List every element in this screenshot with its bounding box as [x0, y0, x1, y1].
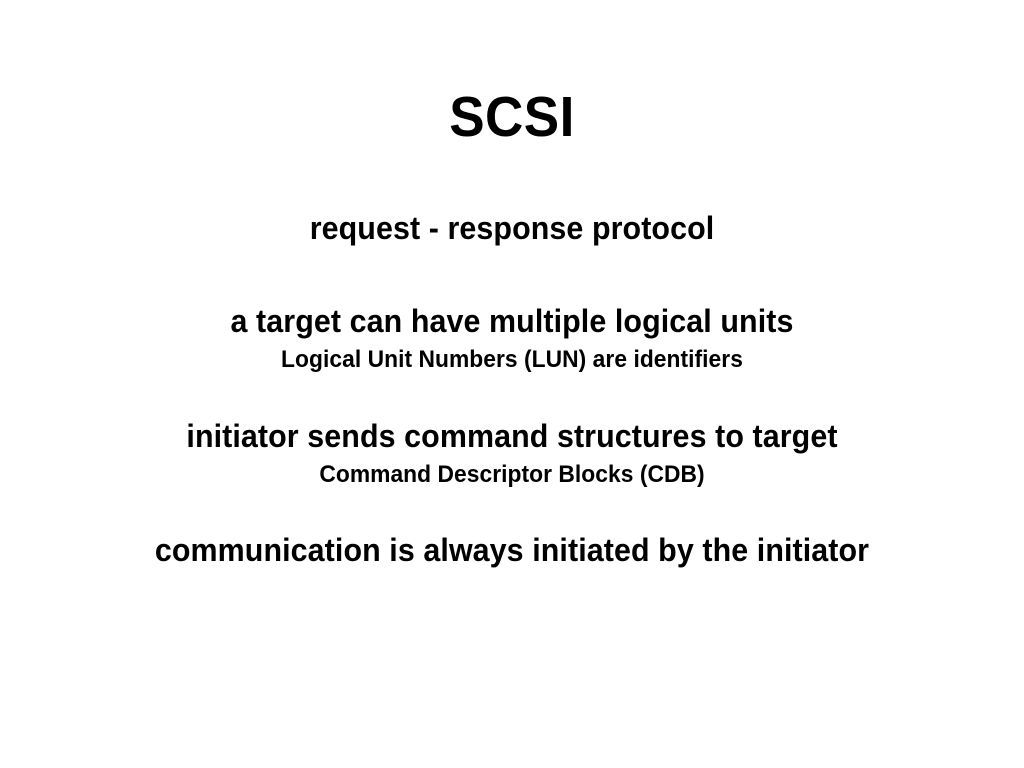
presentation-slide: SCSI request - response protocol a targe… [0, 0, 1024, 768]
content-line-main: request - response protocol [26, 210, 999, 248]
content-line-main: a target can have multiple logical units [26, 303, 999, 341]
content-block: initiator sends command structures to ta… [0, 418, 1024, 490]
content-line-sub: Command Descriptor Blocks (CDB) [26, 461, 999, 490]
content-block: a target can have multiple logical units… [0, 303, 1024, 375]
content-block: communication is always initiated by the… [0, 532, 1024, 570]
slide-title: SCSI [36, 88, 988, 148]
content-line-main: communication is always initiated by the… [26, 532, 999, 570]
content-line-sub: Logical Unit Numbers (LUN) are identifie… [26, 346, 999, 375]
content-block: request - response protocol [0, 210, 1024, 248]
content-line-main: initiator sends command structures to ta… [26, 418, 999, 456]
